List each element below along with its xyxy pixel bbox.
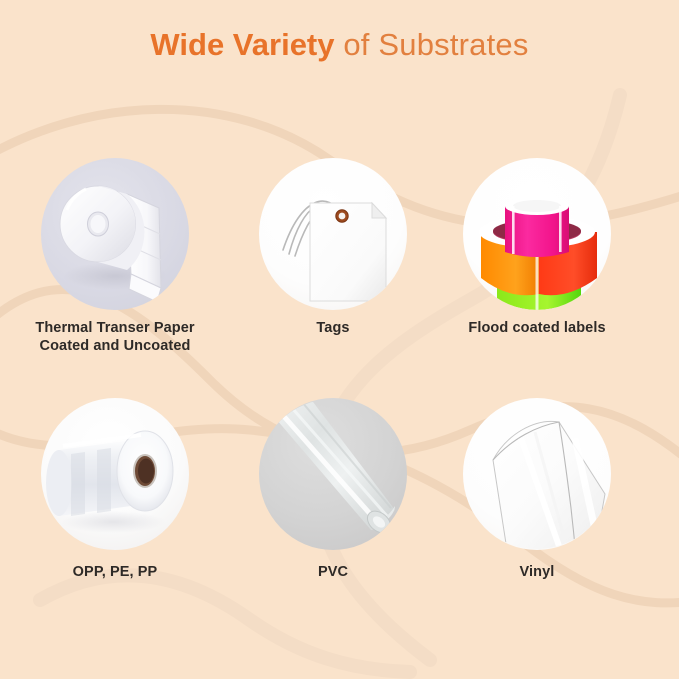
label-line-1: Flood coated labels (468, 320, 605, 336)
tags-label: Tags (224, 320, 442, 338)
vinyl-image (463, 398, 611, 550)
thermal-transfer-paper-image (41, 158, 189, 310)
flood-coated-labels-label: Flood coated labels (428, 320, 646, 338)
substrate-item-vinyl[interactable]: Vinyl (428, 398, 646, 582)
substrate-grid: Thermal Transer Paper Coated and Uncoate… (0, 0, 679, 679)
vinyl-label: Vinyl (428, 564, 646, 582)
opp-pe-pp-image (41, 398, 189, 550)
flood-coated-labels-image (463, 158, 611, 310)
thermal-transfer-paper-label: Thermal Transer Paper Coated and Uncoate… (6, 320, 224, 355)
tags-image (259, 158, 407, 310)
label-line-2: Coated and Uncoated (6, 338, 224, 356)
page-title-light: of Substrates (335, 27, 529, 62)
page-title: Wide Variety of Substrates (0, 28, 679, 62)
substrate-item-opp-pe-pp[interactable]: OPP, PE, PP (6, 398, 224, 582)
label-line-1: Thermal Transer Paper (35, 320, 194, 336)
label-line-1: Tags (316, 320, 349, 336)
substrate-item-tags[interactable]: Tags (224, 158, 442, 338)
substrate-item-thermal-transfer-paper[interactable]: Thermal Transer Paper Coated and Uncoate… (6, 158, 224, 355)
substrate-item-pvc[interactable]: PVC (224, 398, 442, 582)
label-line-1: Vinyl (520, 564, 555, 580)
pvc-label: PVC (224, 564, 442, 582)
infographic-canvas: Wide Variety of Substrates (0, 0, 679, 679)
label-line-1: PVC (318, 564, 348, 580)
opp-pe-pp-label: OPP, PE, PP (6, 564, 224, 582)
page-title-strong: Wide Variety (150, 27, 334, 62)
pvc-image (259, 398, 407, 550)
label-line-1: OPP, PE, PP (73, 564, 158, 580)
substrate-item-flood-coated-labels[interactable]: Flood coated labels (428, 158, 646, 338)
